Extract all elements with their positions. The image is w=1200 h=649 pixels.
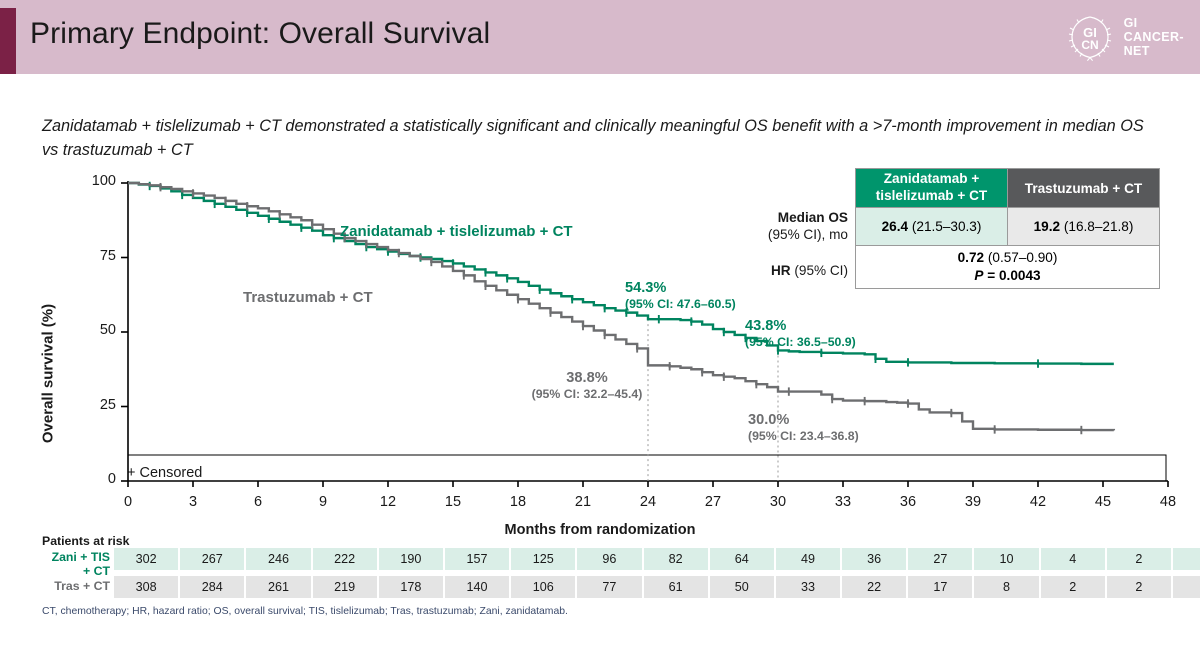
risk-cell: 125 [511, 548, 577, 570]
slide-subtitle: Zanidatamab + tislelizumab + CT demonstr… [42, 115, 1152, 162]
gi-cancer-net-logo: GI CN GI CANCER- NET [1065, 12, 1184, 62]
results-cell-median-os-tras-ci: (16.8–21.8) [1060, 219, 1133, 234]
results-cell-hr-value: 0.72 [958, 250, 984, 265]
results-col-header-zanidatamab-line2: tislelizumab + CT [856, 188, 1007, 205]
risk-cell: 2 [1107, 576, 1173, 598]
risk-row-label-zani-line2: + CT [83, 564, 110, 578]
risk-cell: 267 [180, 548, 246, 570]
logo-emblem-bottom: CN [1081, 38, 1098, 52]
results-row-label-median-os: Median OS (95% CI), mo [768, 209, 848, 243]
results-table-row-median-os: 26.4 (21.5–30.3) 19.2 (16.8–21.8) [856, 208, 1160, 246]
slide-header-band: Primary Endpoint: Overall Survival GI CN [0, 0, 1200, 74]
page-title: Primary Endpoint: Overall Survival [30, 17, 490, 51]
milestone-tras-30mo-value: 30.0% [748, 412, 859, 428]
results-cell-median-os-tras: 19.2 (16.8–21.8) [1008, 208, 1160, 246]
curve-label-zanidatamab: Zanidatamab + tislelizumab + CT [340, 223, 573, 240]
results-cell-median-os-zani-value: 26.4 [882, 219, 908, 234]
risk-cell: 222 [313, 548, 379, 570]
results-cell-pvalue-line: P = 0.0043 [856, 267, 1159, 285]
results-cell-median-os-zani: 26.4 (21.5–30.3) [856, 208, 1008, 246]
milestone-zani-30mo: 43.8% (95% CI: 36.5–50.9) [745, 318, 856, 349]
risk-cell: 0 [1173, 548, 1200, 570]
risk-row-zani-values: 30226724622219015712596826449362710420 [114, 548, 1200, 570]
milestone-tras-30mo: 30.0% (95% CI: 23.4–36.8) [748, 412, 859, 443]
results-cell-median-os-zani-ci: (21.5–30.3) [908, 219, 981, 234]
x-axis-title: Months from randomization [0, 522, 1200, 538]
milestone-zani-24mo: 54.3% (95% CI: 47.6–60.5) [625, 280, 736, 311]
curve-label-trastuzumab: Trastuzumab + CT [243, 289, 373, 306]
results-table-header-row: Zanidatamab + tislelizumab + CT Trastuzu… [856, 169, 1160, 208]
results-cell-pvalue-rest: = 0.0043 [984, 268, 1041, 283]
risk-cell: 157 [445, 548, 511, 570]
risk-cell: 64 [710, 548, 776, 570]
risk-cell: 308 [114, 576, 180, 598]
risk-cell: 27 [908, 548, 974, 570]
results-table-row-hr: 0.72 (0.57–0.90) P = 0.0043 [856, 246, 1160, 289]
risk-row-tras-values: 3082842612191781401067761503322178220 [114, 576, 1200, 598]
results-cell-median-os-tras-value: 19.2 [1034, 219, 1060, 234]
risk-cell: 261 [246, 576, 312, 598]
risk-cell: 140 [445, 576, 511, 598]
results-row-label-hr: HR (95% CI) [771, 262, 848, 279]
risk-cell: 36 [842, 548, 908, 570]
milestone-zani-30mo-ci: (95% CI: 36.5–50.9) [745, 335, 856, 349]
milestone-zani-24mo-ci: (95% CI: 47.6–60.5) [625, 297, 736, 311]
milestone-tras-30mo-ci: (95% CI: 23.4–36.8) [748, 429, 859, 443]
patients-at-risk-title: Patients at risk [42, 534, 129, 548]
logo-wordmark: GI CANCER- NET [1124, 16, 1184, 58]
logo-wordmark-line1: GI [1124, 16, 1184, 30]
risk-cell: 22 [842, 576, 908, 598]
risk-cell: 284 [180, 576, 246, 598]
risk-cell: 17 [908, 576, 974, 598]
results-row-label-median-os-line1: Median OS [778, 210, 848, 225]
risk-cell: 4 [1041, 548, 1107, 570]
results-row-label-hr-rest: (95% CI) [791, 263, 848, 278]
risk-cell: 2 [1107, 548, 1173, 570]
risk-cell: 2 [1041, 576, 1107, 598]
milestone-zani-30mo-value: 43.8% [745, 318, 856, 334]
footnote: CT, chemotherapy; HR, hazard ratio; OS, … [42, 606, 568, 617]
risk-cell: 96 [577, 548, 643, 570]
results-col-header-trastuzumab: Trastuzumab + CT [1008, 169, 1160, 208]
risk-cell: 190 [379, 548, 445, 570]
risk-cell: 246 [246, 548, 312, 570]
risk-cell: 33 [776, 576, 842, 598]
results-table: Zanidatamab + tislelizumab + CT Trastuzu… [855, 168, 1160, 289]
results-row-label-median-os-line2: (95% CI), mo [768, 227, 848, 242]
risk-row-label-tras: Tras + CT [22, 579, 110, 593]
results-row-label-hr-bold: HR [771, 263, 791, 278]
risk-cell: 106 [511, 576, 577, 598]
risk-row-label-zani-line1: Zani + TIS [52, 550, 110, 564]
risk-row-label-zani: Zani + TIS + CT [22, 550, 110, 578]
results-col-header-zanidatamab-line1: Zanidatamab + [856, 171, 1007, 188]
risk-cell: 178 [379, 576, 445, 598]
logo-wordmark-line2: CANCER- [1124, 30, 1184, 44]
risk-cell: 0 [1173, 576, 1200, 598]
results-cell-pvalue-symbol: P [974, 268, 983, 283]
milestone-zani-24mo-value: 54.3% [625, 280, 736, 296]
logo-wordmark-line3: NET [1124, 44, 1184, 58]
milestone-tras-24mo-ci: (95% CI: 32.2–45.4) [512, 387, 662, 401]
risk-cell: 50 [710, 576, 776, 598]
risk-cell: 82 [644, 548, 710, 570]
risk-cell: 219 [313, 576, 379, 598]
results-col-header-zanidatamab: Zanidatamab + tislelizumab + CT [856, 169, 1008, 208]
header-accent-bar [0, 8, 16, 74]
milestone-tras-24mo-value: 38.8% [512, 370, 662, 386]
laurel-wreath-icon: GI CN [1065, 12, 1115, 62]
milestone-tras-24mo: 38.8% (95% CI: 32.2–45.4) [512, 370, 662, 401]
risk-cell: 61 [644, 576, 710, 598]
risk-cell: 10 [974, 548, 1040, 570]
results-cell-hr-ci: (0.57–0.90) [984, 250, 1057, 265]
results-cell-hr: 0.72 (0.57–0.90) P = 0.0043 [856, 246, 1160, 289]
risk-cell: 302 [114, 548, 180, 570]
risk-cell: 49 [776, 548, 842, 570]
results-cell-hr-line: 0.72 (0.57–0.90) [856, 249, 1159, 267]
risk-cell: 77 [577, 576, 643, 598]
risk-cell: 8 [974, 576, 1040, 598]
